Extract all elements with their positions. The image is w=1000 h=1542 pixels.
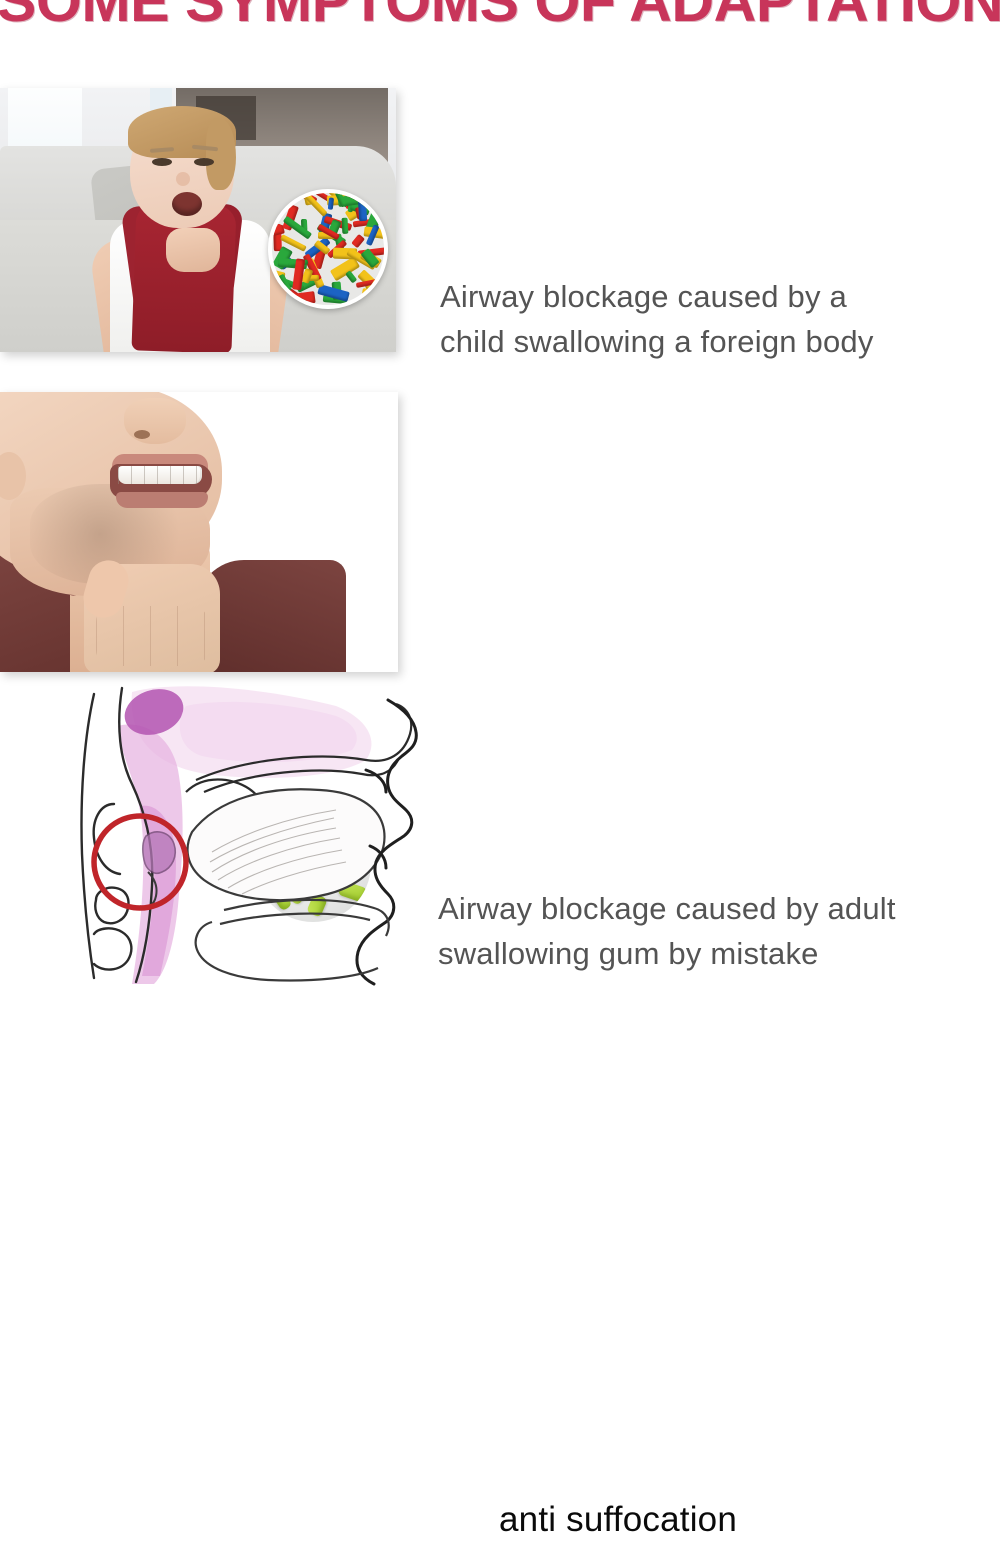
child-hands-at-throat — [166, 228, 220, 272]
child-open-mouth — [172, 192, 202, 216]
man-lower-lip — [116, 492, 208, 508]
airway-anatomy-diagram — [36, 686, 420, 986]
caption-child-foreign-body: Airway blockage caused by a child swallo… — [440, 274, 960, 364]
child-choking-photo — [0, 88, 396, 352]
child-nose — [176, 172, 190, 186]
adult-choking-photo — [0, 392, 398, 672]
child-left-eye — [152, 158, 172, 166]
section-anti-suffocation: anti suffocation — [0, 686, 1000, 986]
child-right-eye — [194, 158, 214, 166]
toy-piece — [351, 234, 365, 248]
tongue — [188, 789, 385, 900]
page-title: SOME SYMPTOMS OF ADAPTATION — [0, 0, 1000, 35]
section-adult-gum: Airway blockage caused by adult swallowi… — [0, 392, 1000, 672]
toy-piece — [342, 218, 349, 234]
man-teeth — [118, 466, 202, 484]
plastic-toy-pieces-inset — [268, 189, 388, 309]
man-nose — [124, 398, 186, 444]
man-knuckles — [96, 606, 208, 666]
toy-piece — [345, 270, 358, 284]
caption-anti-suffocation: anti suffocation — [499, 1498, 737, 1542]
man-nostril — [134, 430, 150, 439]
page-title-band: SOME SYMPTOMS OF ADAPTATION — [0, 0, 1000, 44]
anatomy-svg — [36, 686, 420, 986]
section-child-foreign-body: Airway blockage caused by a child swallo… — [0, 88, 1000, 352]
toy-piece — [358, 196, 367, 222]
